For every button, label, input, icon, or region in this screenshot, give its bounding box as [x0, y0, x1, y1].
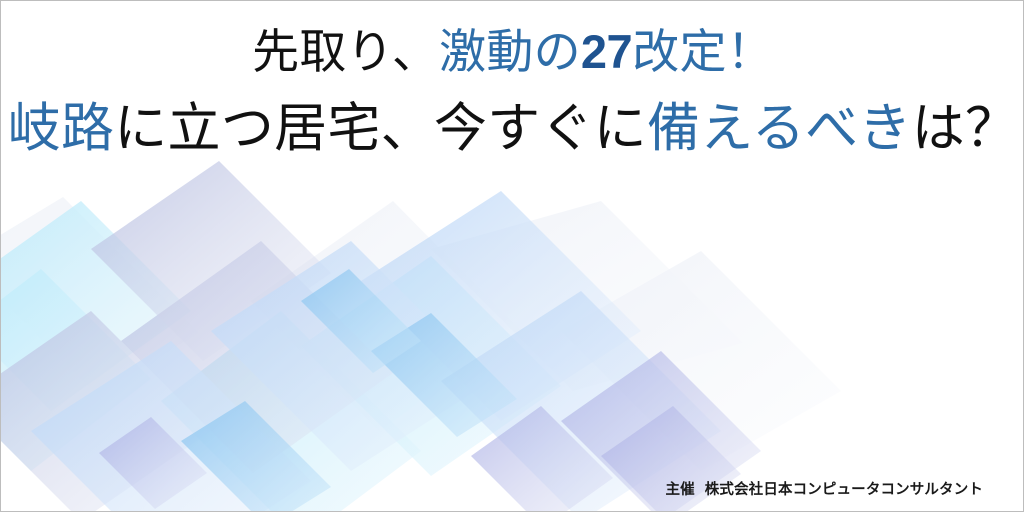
deco-shape-group-blue	[31, 191, 721, 512]
deco-shape-group-violet	[99, 351, 761, 512]
title-line-1-segment-2: 激動の	[439, 25, 581, 78]
title-line-1-segment-number: 27	[581, 25, 632, 78]
title-line-2-segment-3: 備えるべき	[647, 99, 912, 158]
title-line-2-segment-1: 岐路	[8, 99, 115, 158]
title-line-2: 岐路に立つ居宅、今すぐに備えるべきは？	[1, 91, 1024, 167]
title-line-1: 先取り、激動の27改定！	[1, 19, 1024, 85]
host-label: 主催	[665, 482, 694, 498]
slide-title-block: 先取り、激動の27改定！ 岐路に立つ居宅、今すぐに備えるべきは？	[1, 19, 1024, 167]
organizer-footer: 主催株式会社日本コンピュータコンサルタント	[665, 478, 983, 499]
deco-shape-group-cyan	[1, 201, 561, 512]
deco-shape-group-deep-accent	[181, 269, 517, 512]
seminar-title-slide: 先取り、激動の27改定！ 岐路に立つ居宅、今すぐに備えるべきは？ 主催株式会社日…	[0, 0, 1024, 512]
title-line-2-segment-4: は？	[912, 99, 1019, 158]
title-line-1-segment-1: 先取り、	[252, 25, 439, 78]
deco-shape-group-periwinkle	[1, 161, 393, 512]
deco-shape-group-pale	[1, 197, 841, 471]
title-line-2-segment-2: に立つ居宅、今すぐに	[114, 99, 647, 158]
organizer-name: 株式会社日本コンピュータコンサルタント	[705, 482, 983, 498]
title-line-1-segment-4: 改定！	[632, 25, 774, 78]
